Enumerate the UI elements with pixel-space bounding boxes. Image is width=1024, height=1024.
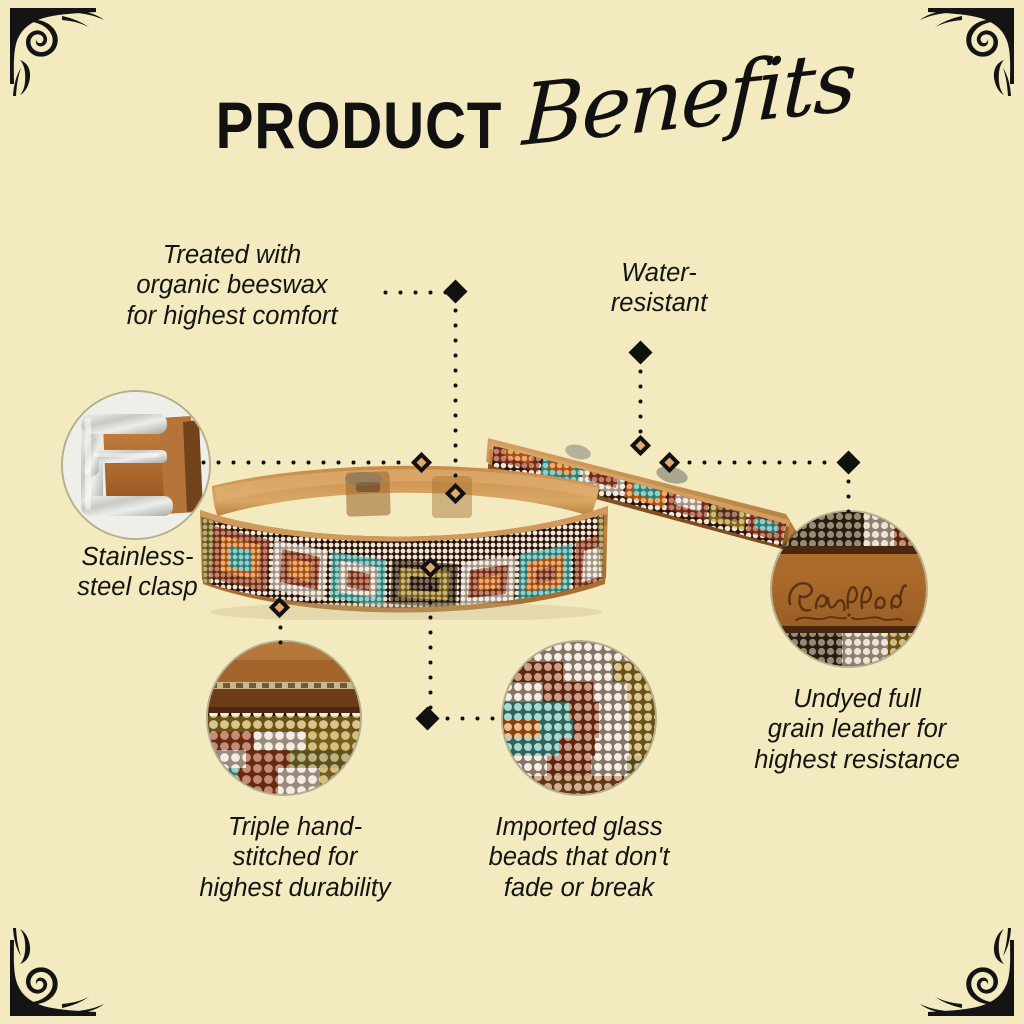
callout-text-imported-glass-beads: Imported glass beads that don't fade or … [446, 812, 712, 903]
page-title-main: PRODUCT [216, 92, 503, 158]
connector-line-beads-vertical [427, 580, 434, 710]
connector-line-leather-horizontal [682, 459, 840, 466]
connector-marker-leather [836, 450, 860, 474]
page-title: PRODUCT Benefits [0, 70, 1024, 200]
callout-text-triple-hand-stitched: Triple hand- stitched for highest durabi… [145, 812, 445, 903]
callout-text-undyed-leather: Undyed full grain leather for highest re… [692, 684, 1022, 775]
page-title-script: Benefits [521, 38, 856, 158]
product-photo-main-collar [196, 452, 616, 620]
connector-line-beeswax-vertical [452, 303, 459, 493]
corner-flourish-icon [0, 904, 120, 1024]
callout-text-stainless-steel-clasp: Stainless- steel clasp [30, 542, 245, 603]
connector-line-clasp [196, 459, 410, 466]
connector-line-beads-horizontal [440, 715, 502, 722]
inset-triple-hand-stitching [208, 642, 360, 794]
inset-embossed-brand-leather [772, 512, 926, 666]
connector-line-water-resistant [637, 364, 644, 440]
connector-marker-water-resistant [628, 340, 652, 364]
inset-glass-beads [503, 642, 655, 794]
corner-flourish-icon [904, 904, 1024, 1024]
inset-stainless-steel-clasp [63, 392, 209, 538]
infographic-canvas: PRODUCT Benefits [0, 0, 1024, 1024]
callout-text-water-resistant: Water- resistant [548, 258, 770, 319]
connector-marker-beads [415, 706, 439, 730]
callout-text-beeswax: Treated with organic beeswax for highest… [72, 240, 392, 331]
connector-line-leather-vertical [845, 474, 852, 518]
connector-marker-beeswax [443, 279, 467, 303]
connector-line-stitch [277, 620, 284, 646]
